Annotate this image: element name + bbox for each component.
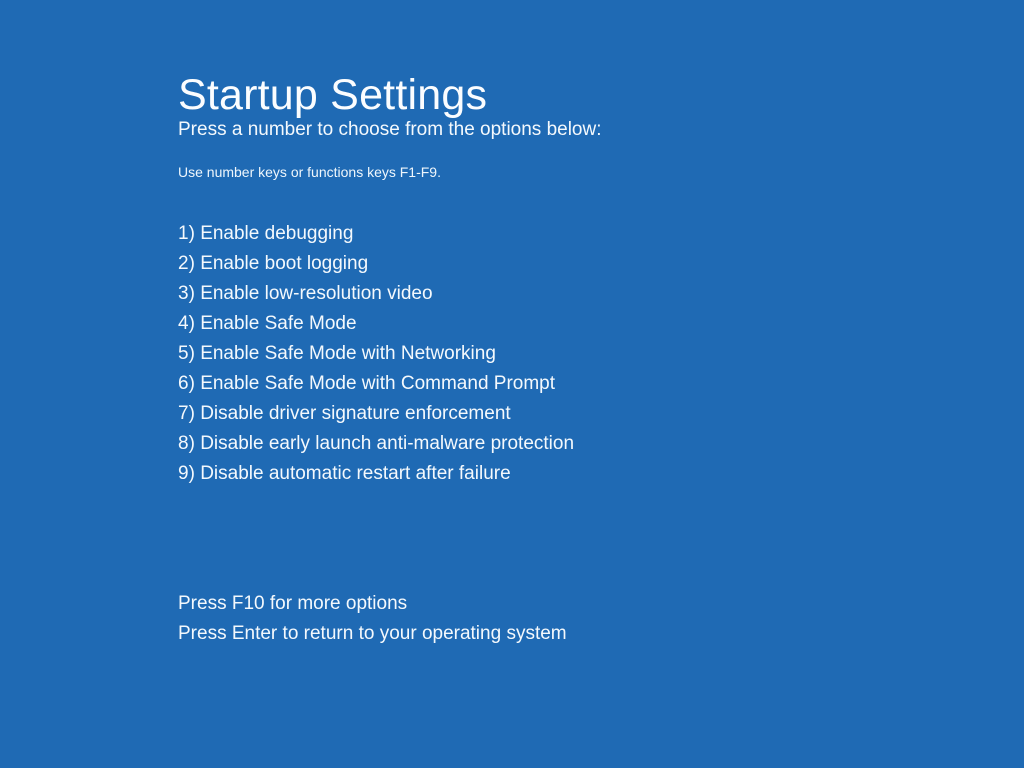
option-label-9: Disable automatic restart after failure [200,463,510,484]
more-options-action[interactable]: Press F10 for more options [178,589,567,619]
option-number-8: 8) [178,433,195,454]
option-number-2: 2) [178,253,195,274]
return-to-os-action[interactable]: Press Enter to return to your operating … [178,619,567,649]
intro-instruction: Press a number to choose from the option… [178,119,602,142]
option-number-5: 5) [178,343,195,364]
option-item-7[interactable]: 7) Disable driver signature enforcement [178,399,574,429]
page-title: Startup Settings [178,74,487,117]
option-number-1: 1) [178,223,195,244]
option-item-6[interactable]: 6) Enable Safe Mode with Command Prompt [178,369,574,399]
option-label-2: Enable boot logging [200,253,368,274]
option-label-4: Enable Safe Mode [200,313,356,334]
option-label-8: Disable early launch anti-malware protec… [200,433,574,454]
option-item-3[interactable]: 3) Enable low-resolution video [178,279,574,309]
option-number-9: 9) [178,463,195,484]
option-item-2[interactable]: 2) Enable boot logging [178,249,574,279]
startup-settings-screen: Startup Settings Press a number to choos… [0,0,1024,768]
option-number-4: 4) [178,313,195,334]
keyboard-hint: Use number keys or functions keys F1-F9. [178,164,441,181]
option-number-3: 3) [178,283,195,304]
option-item-4[interactable]: 4) Enable Safe Mode [178,309,574,339]
option-item-9[interactable]: 9) Disable automatic restart after failu… [178,459,574,489]
option-number-7: 7) [178,403,195,424]
option-label-1: Enable debugging [200,223,353,244]
option-label-7: Disable driver signature enforcement [200,403,511,424]
footer-actions: Press F10 for more options Press Enter t… [178,589,567,649]
option-item-8[interactable]: 8) Disable early launch anti-malware pro… [178,429,574,459]
option-label-6: Enable Safe Mode with Command Prompt [200,373,555,394]
startup-options-list: 1) Enable debugging 2) Enable boot loggi… [178,219,574,489]
option-number-6: 6) [178,373,195,394]
option-label-5: Enable Safe Mode with Networking [200,343,496,364]
option-label-3: Enable low-resolution video [200,283,432,304]
option-item-1[interactable]: 1) Enable debugging [178,219,574,249]
option-item-5[interactable]: 5) Enable Safe Mode with Networking [178,339,574,369]
